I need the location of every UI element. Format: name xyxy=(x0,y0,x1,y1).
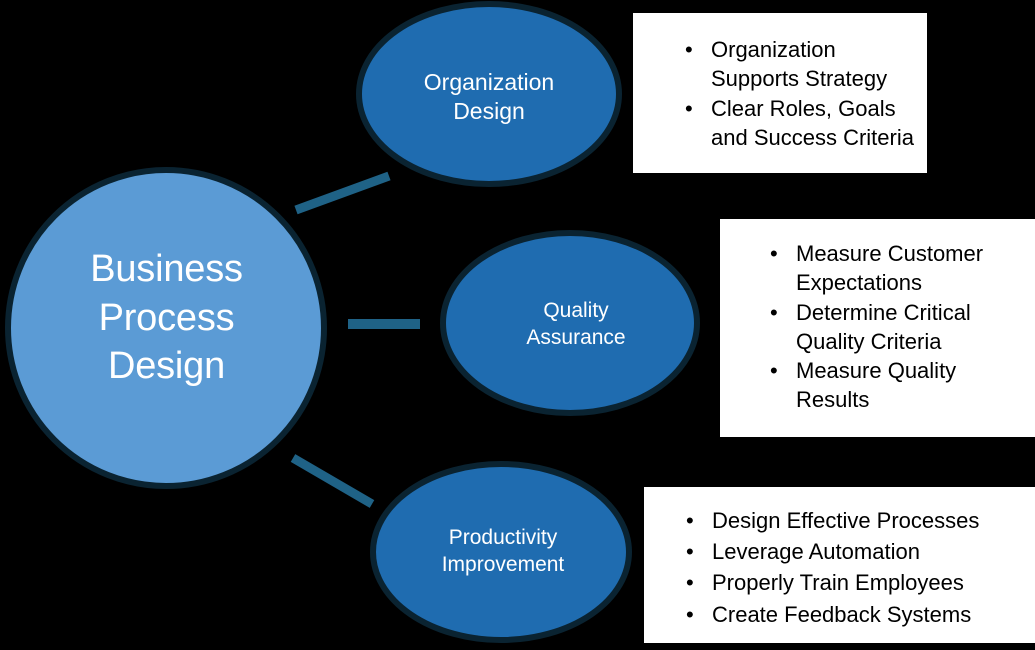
list-item: • Leverage Automation xyxy=(682,536,1028,567)
bullet-icon: • xyxy=(686,599,694,630)
connector-hub-to-organization-design xyxy=(296,176,389,210)
list-item-text: Properly Train Employees xyxy=(712,570,964,595)
callout-organization-design: • Organization Supports Strategy • Clear… xyxy=(630,10,930,176)
list-item-text: Leverage Automation xyxy=(712,539,920,564)
diagram-canvas: Business Process Design Organization Des… xyxy=(0,0,1035,650)
list-item: • Organization Supports Strategy xyxy=(681,35,917,94)
list-item: • Measure Quality Results xyxy=(766,356,1034,415)
list-item-text: Create Feedback Systems xyxy=(712,602,971,627)
branch-ellipse-productivity-improvement[interactable] xyxy=(373,464,629,640)
list-item: • Properly Train Employees xyxy=(682,567,1028,598)
list-item: • Design Effective Processes xyxy=(682,505,1028,536)
callout-list: • Organization Supports Strategy • Clear… xyxy=(681,35,917,153)
list-item-text: Clear Roles, Goals and Success Criteria xyxy=(711,96,914,150)
hub-circle[interactable] xyxy=(8,170,324,486)
list-item-text: Design Effective Processes xyxy=(712,508,979,533)
list-item: • Create Feedback Systems xyxy=(682,599,1028,630)
list-item-text: Measure Customer Expectations xyxy=(796,241,983,295)
bullet-icon: • xyxy=(770,298,778,327)
callout-quality-assurance: • Measure Customer Expectations • Determ… xyxy=(717,216,1035,440)
list-item: • Clear Roles, Goals and Success Criteri… xyxy=(681,94,917,153)
list-item-text: Measure Quality Results xyxy=(796,358,956,412)
list-item-text: Organization Supports Strategy xyxy=(711,37,887,91)
callout-list: • Design Effective Processes • Leverage … xyxy=(682,505,1028,630)
branch-ellipse-organization-design[interactable] xyxy=(359,4,619,184)
list-item-text: Determine Critical Quality Criteria xyxy=(796,300,971,354)
branch-ellipse-quality-assurance[interactable] xyxy=(443,233,697,413)
bullet-icon: • xyxy=(686,505,694,536)
bullet-icon: • xyxy=(685,94,693,123)
list-item: • Determine Critical Quality Criteria xyxy=(766,298,1034,357)
list-item: • Measure Customer Expectations xyxy=(766,239,1034,298)
callout-list: • Measure Customer Expectations • Determ… xyxy=(766,239,1034,415)
callout-productivity-improvement: • Design Effective Processes • Leverage … xyxy=(641,484,1035,646)
bullet-icon: • xyxy=(770,239,778,268)
bullet-icon: • xyxy=(686,536,694,567)
bullet-icon: • xyxy=(685,35,693,64)
bullet-icon: • xyxy=(770,356,778,385)
connector-hub-to-productivity-improvement xyxy=(293,458,372,504)
bullet-icon: • xyxy=(686,567,694,598)
